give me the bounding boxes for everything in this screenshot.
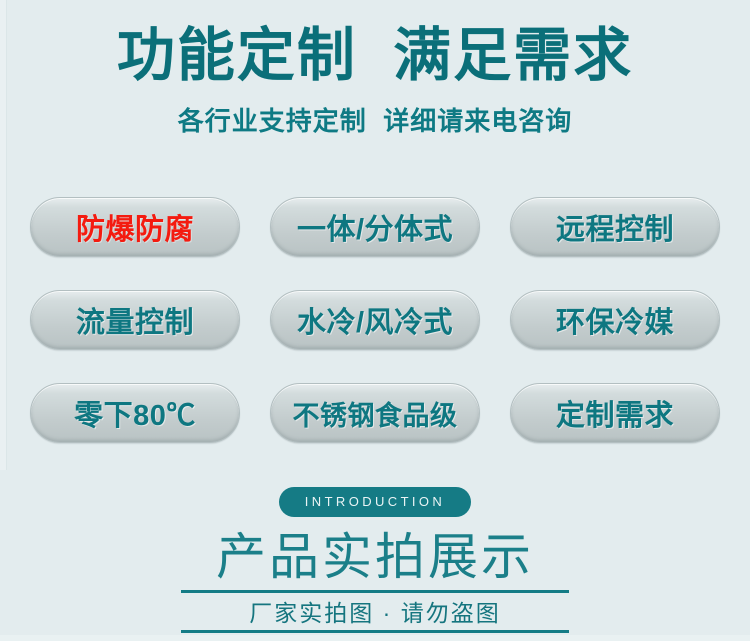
introduction-section: INTRODUCTION 产品实拍展示 厂家实拍图 · 请勿盗图 (0, 487, 750, 633)
introduction-headline: 产品实拍展示 (0, 530, 750, 584)
feature-pill-label: 水冷/风冷式 (297, 299, 453, 341)
feature-pill-minus-80c[interactable]: 零下80℃ (30, 383, 240, 443)
promo-banner: 功能定制 满足需求 各行业支持定制 详细请来电咨询 防爆防腐 一体/分体式 远程… (0, 0, 750, 641)
page-subtitle: 各行业支持定制 详细请来电咨询 (0, 101, 750, 138)
feature-pill-grid: 防爆防腐 一体/分体式 远程控制 流量控制 水冷/风冷式 环保冷媒 零下80℃ … (30, 197, 720, 443)
introduction-subnote-rules: 厂家实拍图 · 请勿盗图 (181, 590, 569, 633)
feature-pill-label: 远程控制 (556, 206, 674, 248)
banner-header: 功能定制 满足需求 各行业支持定制 详细请来电咨询 (0, 0, 750, 138)
feature-pill-label: 一体/分体式 (297, 206, 453, 248)
page-title: 功能定制 满足需求 (0, 26, 750, 87)
feature-pill-flow-control[interactable]: 流量控制 (30, 290, 240, 350)
feature-pill-food-grade-steel[interactable]: 不锈钢食品级 (270, 383, 480, 443)
feature-pill-label: 防爆防腐 (76, 206, 194, 248)
feature-pill-label: 定制需求 (556, 392, 674, 434)
feature-pill-explosion-proof[interactable]: 防爆防腐 (30, 197, 240, 257)
introduction-badge: INTRODUCTION (279, 487, 471, 517)
feature-pill-label: 零下80℃ (74, 392, 196, 434)
feature-pill-label: 流量控制 (76, 299, 194, 341)
feature-pill-label: 不锈钢食品级 (293, 394, 458, 433)
feature-pill-eco-refrigerant[interactable]: 环保冷媒 (510, 290, 720, 350)
introduction-subnote: 厂家实拍图 · 请勿盗图 (181, 594, 569, 628)
feature-pill-label: 环保冷媒 (556, 299, 674, 341)
feature-pill-integrated-split[interactable]: 一体/分体式 (270, 197, 480, 257)
feature-pill-water-air-cooled[interactable]: 水冷/风冷式 (270, 290, 480, 350)
feature-pill-custom-request[interactable]: 定制需求 (510, 383, 720, 443)
feature-pill-remote-control[interactable]: 远程控制 (510, 197, 720, 257)
